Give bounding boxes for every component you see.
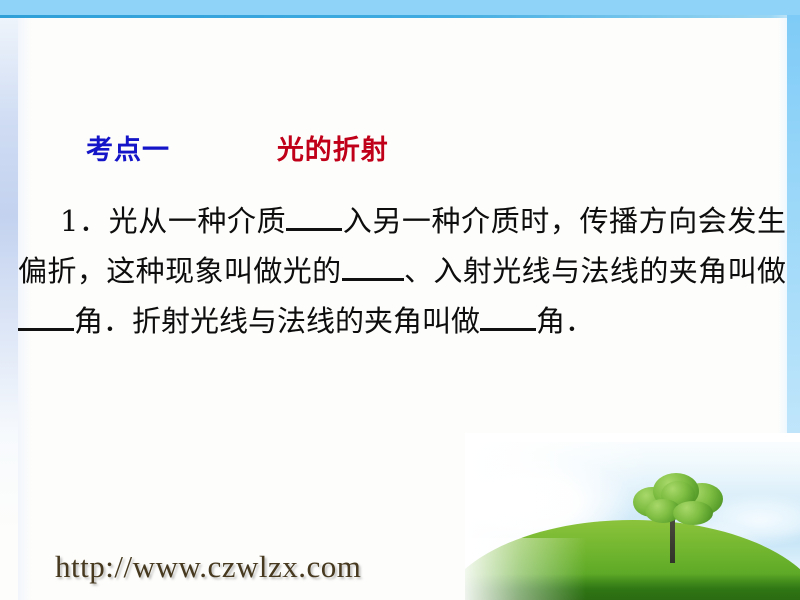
photo-hill-left-fade xyxy=(465,538,586,600)
body-segment-3: 、入射光线与法线的夹角叫做 xyxy=(404,254,786,288)
fill-in-blank-3[interactable] xyxy=(18,328,74,331)
top-rule-line xyxy=(0,15,795,18)
top-decorative-band xyxy=(0,0,800,15)
key-point-label: 考点一 xyxy=(86,135,170,166)
photo-tree-canopy xyxy=(633,473,723,529)
body-segment-4: 角．折射光线与法线的夹角叫做 xyxy=(74,304,480,338)
fill-in-blank-4[interactable] xyxy=(480,328,536,331)
left-edge-gradient xyxy=(0,18,18,600)
photo-top-white-strip xyxy=(465,433,800,442)
slide-canvas: 考点一 光的折射 1．光从一种介质入另一种介质时，传播方向会发生偏折，这种现象叫… xyxy=(0,0,800,600)
site-url-watermark[interactable]: http://www.czwlzx.com xyxy=(55,549,361,585)
page-title: 考点一 光的折射 xyxy=(86,135,389,167)
topic-label: 光的折射 xyxy=(277,135,389,166)
body-segment-1: 光从一种介质 xyxy=(109,204,287,238)
tree-landscape-photo xyxy=(465,433,800,600)
canopy-lobe xyxy=(673,501,713,525)
body-segment-5: 角． xyxy=(536,304,594,338)
fill-in-blank-2[interactable] xyxy=(342,278,404,281)
item-number: 1． xyxy=(60,204,109,238)
question-body: 1．光从一种介质入另一种介质时，传播方向会发生偏折，这种现象叫做光的、入射光线与… xyxy=(18,196,786,346)
fill-in-blank-1[interactable] xyxy=(286,228,342,231)
